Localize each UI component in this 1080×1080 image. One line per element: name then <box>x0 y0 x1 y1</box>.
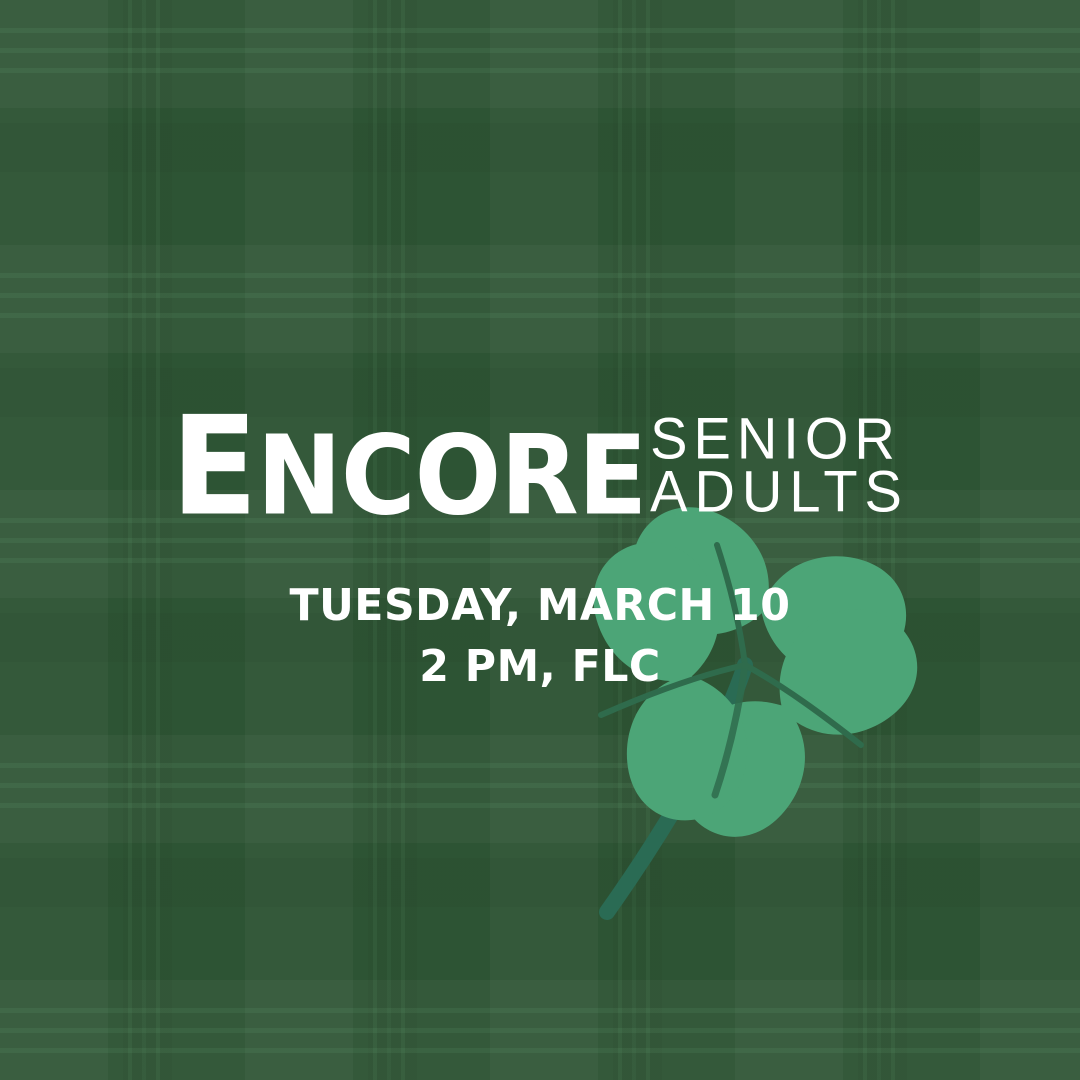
brand-subtitle-line-2: ADULTS <box>650 463 909 520</box>
logo-lockup: ENCORE SENIOR ADULTS <box>0 400 1080 519</box>
brand-subtitle: SENIOR ADULTS <box>650 410 909 519</box>
brand-wordmark: ENCORE <box>171 406 646 531</box>
poster-canvas: ENCORE SENIOR ADULTS TUESDAY, MARCH 10 2… <box>0 0 1080 1080</box>
brand-wordmark-rest: NCORE <box>257 413 647 541</box>
brand-wordmark-cap: E <box>171 387 257 546</box>
shamrock-icon <box>545 480 965 940</box>
shamrock-leaves <box>583 492 941 860</box>
